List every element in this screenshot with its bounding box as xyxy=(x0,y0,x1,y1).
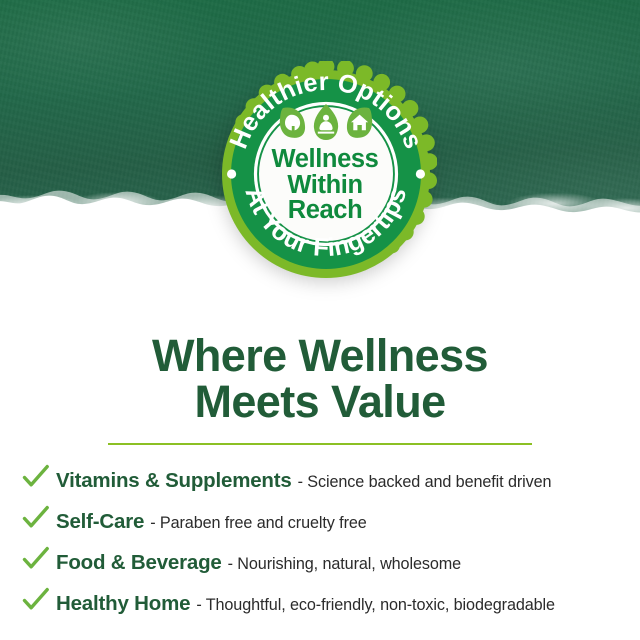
check-icon xyxy=(22,587,56,613)
list-item-title: Food & Beverage xyxy=(56,551,222,575)
promo-banner: Healthier Options At Your Fingertips xyxy=(0,0,640,640)
title-divider xyxy=(108,443,532,445)
check-icon xyxy=(22,464,56,490)
badge-title: Wellness Within Reach xyxy=(213,147,437,224)
list-item: Healthy Home - Thoughtful, eco-friendly,… xyxy=(22,584,628,625)
badge-title-line-2: Within xyxy=(213,173,437,199)
page-title-line-1: Where Wellness xyxy=(0,333,640,379)
list-item-desc: - Thoughtful, eco-friendly, non-toxic, b… xyxy=(190,596,555,615)
list-item-desc: - Nourishing, natural, wholesome xyxy=(222,555,461,574)
page-title-line-2: Meets Value xyxy=(0,379,640,425)
wellness-badge: Healthier Options At Your Fingertips xyxy=(213,61,437,287)
page-title: Where Wellness Meets Value xyxy=(0,333,640,425)
list-item-title: Self-Care xyxy=(56,510,144,534)
list-item-desc: - Paraben free and cruelty free xyxy=(144,514,366,533)
check-icon xyxy=(22,546,56,572)
list-item-title: Healthy Home xyxy=(56,592,190,616)
benefits-list: Vitamins & Supplements - Science backed … xyxy=(22,461,628,625)
list-item: Food & Beverage - Nourishing, natural, w… xyxy=(22,543,628,584)
badge-icon-row xyxy=(280,104,372,140)
list-item: Vitamins & Supplements - Science backed … xyxy=(22,461,628,502)
list-item-title: Vitamins & Supplements xyxy=(56,469,292,493)
list-item: Self-Care - Paraben free and cruelty fre… xyxy=(22,502,628,543)
badge-title-line-1: Wellness xyxy=(213,147,437,173)
badge-title-line-3: Reach xyxy=(213,198,437,224)
check-icon xyxy=(22,505,56,531)
list-item-desc: - Science backed and benefit driven xyxy=(292,473,552,492)
